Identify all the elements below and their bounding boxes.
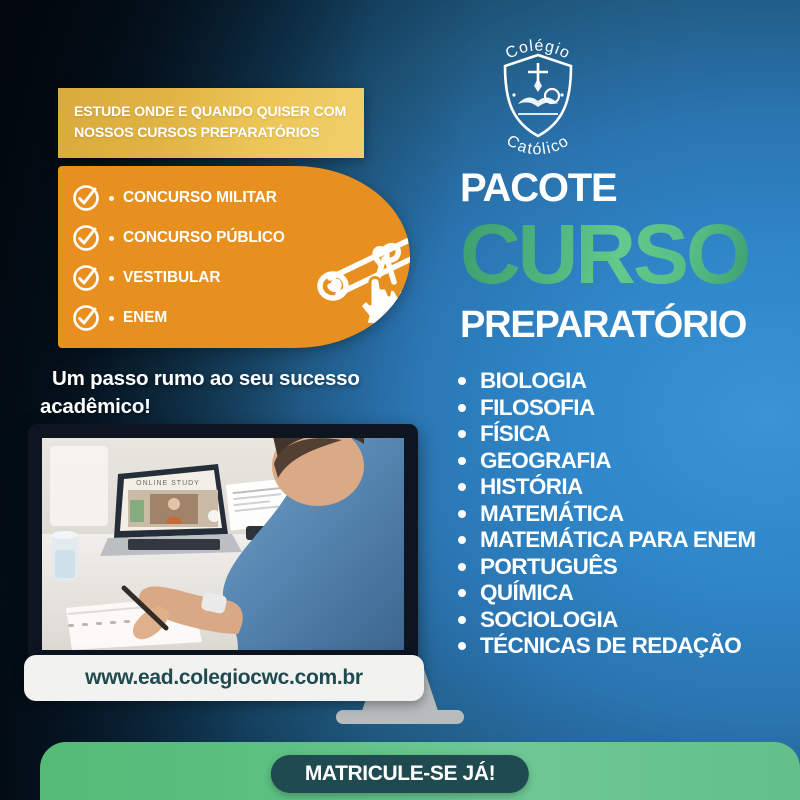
subject-label: GEOGRAFIA	[480, 448, 611, 474]
bullet-dot-icon	[458, 430, 466, 438]
enroll-now-label: MATRICULE-SE JÁ!	[305, 762, 495, 786]
bullet-dot-icon	[458, 404, 466, 412]
bullet-dot-icon	[458, 589, 466, 597]
subject-item: SOCIOLOGIA	[458, 607, 755, 634]
subject-label: PORTUGUÊS	[480, 554, 617, 580]
website-url-text: www.ead.colegiocwc.com.br	[85, 666, 363, 690]
checklist-item: CONCURSO PÚBLICO	[72, 218, 322, 258]
subject-item: FÍSICA	[458, 421, 755, 448]
diploma-scroll-icon	[308, 204, 410, 334]
checklist-item-label: CONCURSO MILITAR	[123, 189, 277, 207]
bullet-dot-icon	[458, 563, 466, 571]
check-circle-icon	[72, 264, 100, 292]
subject-item: MATEMÁTICA PARA ENEM	[458, 527, 755, 554]
tagline: Um passo rumo ao seu sucesso acadêmico!	[40, 365, 440, 422]
subject-item: PORTUGUÊS	[458, 554, 755, 581]
subject-label: FILOSOFIA	[480, 395, 595, 421]
subject-item: FILOSOFIA	[458, 395, 755, 422]
subject-label: MATEMÁTICA PARA ENEM	[480, 527, 755, 553]
bullet-dot-icon	[458, 510, 466, 518]
bullet-dot-icon	[458, 483, 466, 491]
online-study-photo: ONLINE STUDY	[42, 438, 404, 650]
check-circle-icon	[72, 224, 100, 252]
subject-label: BIOLOGIA	[480, 368, 586, 394]
subject-item: TÉCNICAS DE REDAÇÃO	[458, 633, 755, 660]
tagline-line-2: acadêmico!	[40, 393, 440, 421]
enroll-now-button[interactable]: MATRICULE-SE JÁ!	[271, 755, 529, 793]
tagline-line-1: Um passo rumo ao seu sucesso	[40, 365, 440, 393]
subject-item: HISTÓRIA	[458, 474, 755, 501]
bullet-dot-icon	[458, 536, 466, 544]
check-circle-icon	[72, 304, 100, 332]
subject-label: SOCIOLOGIA	[480, 607, 618, 633]
study-anywhere-banner: ESTUDE ONDE E QUANDO QUISER COM NOSSOS C…	[58, 88, 364, 158]
bullet-dot-icon	[109, 236, 114, 241]
bullet-dot-icon	[458, 377, 466, 385]
svg-text:Colégio: Colégio	[503, 37, 573, 62]
bullet-dot-icon	[109, 196, 114, 201]
subject-item: QUÍMICA	[458, 580, 755, 607]
banner-line-2: NOSSOS CURSOS PREPARATÓRIOS	[74, 123, 346, 144]
subject-label: TÉCNICAS DE REDAÇÃO	[480, 633, 741, 659]
bullet-dot-icon	[109, 276, 114, 281]
checklist-item-label: CONCURSO PÚBLICO	[123, 229, 285, 247]
subject-item: MATEMÁTICA	[458, 501, 755, 528]
subject-label: HISTÓRIA	[480, 474, 583, 500]
checklist-item: CONCURSO MILITAR	[72, 178, 322, 218]
bullet-dot-icon	[458, 616, 466, 624]
bullet-dot-icon	[458, 642, 466, 650]
headline-sub: PREPARATÓRIO	[460, 306, 746, 344]
banner-line-1: ESTUDE ONDE E QUANDO QUISER COM	[74, 102, 346, 123]
checklist-item: VESTIBULAR	[72, 258, 322, 298]
checklist-item: ENEM	[72, 298, 322, 338]
monitor-stand-base	[336, 710, 464, 724]
exam-checklist-panel: CONCURSO MILITAR CONCURSO PÚBLICO VESTIB…	[58, 166, 410, 348]
banner-text: ESTUDE ONDE E QUANDO QUISER COM NOSSOS C…	[58, 102, 362, 143]
checklist-item-label: ENEM	[123, 309, 167, 327]
headline-eyebrow: PACOTE	[460, 168, 617, 208]
subject-label: QUÍMICA	[480, 580, 573, 606]
subject-item: BIOLOGIA	[458, 368, 755, 395]
subject-item: GEOGRAFIA	[458, 448, 755, 475]
bullet-dot-icon	[458, 457, 466, 465]
website-url-pill[interactable]: www.ead.colegiocwc.com.br	[24, 655, 424, 701]
subject-label: MATEMÁTICA	[480, 501, 624, 527]
checklist: CONCURSO MILITAR CONCURSO PÚBLICO VESTIB…	[72, 178, 322, 338]
checklist-item-label: VESTIBULAR	[123, 269, 220, 287]
promo-poster: Colégio Católico ESTUDE ONDE E QUANDO QU…	[0, 0, 800, 800]
headline-main: CURSO	[460, 212, 748, 296]
monitor-mockup: ONLINE STUDY	[28, 424, 418, 664]
bullet-dot-icon	[109, 316, 114, 321]
colegio-catolico-logo: Colégio Católico	[478, 30, 598, 160]
pointing-hand-cursor-icon	[360, 278, 404, 327]
check-circle-icon	[72, 184, 100, 212]
subject-list: BIOLOGIA FILOSOFIA FÍSICA GEOGRAFIA HIST…	[458, 368, 755, 660]
subject-label: FÍSICA	[480, 421, 550, 447]
